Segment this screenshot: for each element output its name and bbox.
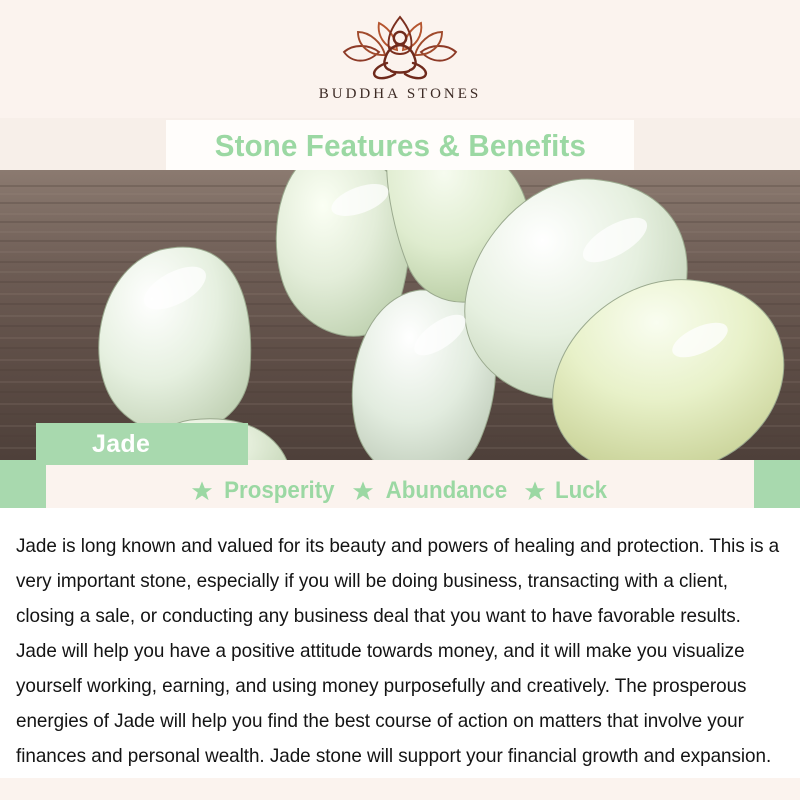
star-icon (352, 480, 374, 502)
benefit-item: Prosperity (191, 477, 339, 505)
brand-header: BUDDHA STONES (0, 0, 800, 120)
star-icon (191, 480, 213, 502)
description-panel: Jade is long known and valued for its be… (0, 508, 800, 788)
stone-name-tag: Jade (36, 423, 248, 465)
benefit-label: Prosperity (224, 477, 334, 505)
benefit-label: Abundance (385, 477, 507, 505)
benefits-row: Prosperity Abundance Luck (0, 474, 800, 508)
infographic-page: BUDDHA STONES Stone Features & Benefits (0, 0, 800, 800)
page-title: Stone Features & Benefits (214, 128, 585, 164)
stone-name: Jade (92, 430, 150, 459)
description-text: Jade is long known and valued for its be… (16, 529, 782, 800)
benefit-item: Luck (524, 477, 609, 505)
benefit-label: Luck (555, 477, 607, 505)
lotus-meditation-icon (325, 14, 475, 80)
stone-photo (0, 170, 800, 460)
star-icon (524, 480, 546, 502)
brand-logo: BUDDHA STONES (0, 14, 800, 103)
benefit-item: Abundance (352, 477, 512, 505)
brand-name: BUDDHA STONES (0, 86, 800, 103)
title-card: Stone Features & Benefits (166, 120, 634, 172)
bottom-strip (0, 778, 800, 800)
